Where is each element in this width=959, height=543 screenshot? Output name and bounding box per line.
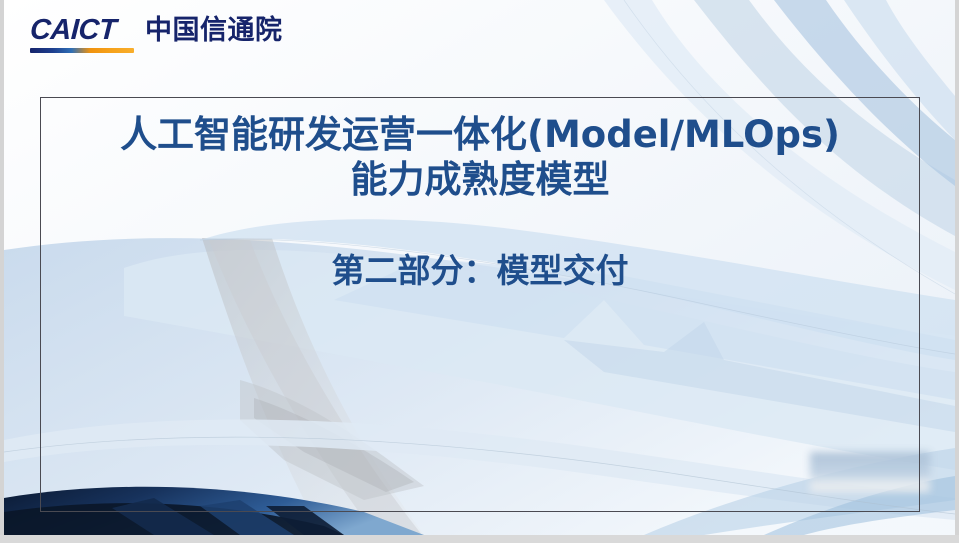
- logo-mark: CAICT: [30, 16, 134, 53]
- title-block: 人工智能研发运营一体化(Model/MLOps) 能力成熟度模型 第二部分：模型…: [40, 112, 920, 292]
- viewer-left-gutter: [0, 0, 4, 543]
- viewer-right-gutter: [955, 0, 959, 543]
- slide-subtitle: 第二部分：模型交付: [40, 250, 920, 292]
- logo-underline-gradient: [30, 48, 134, 53]
- slide-title-line-1: 人工智能研发运营一体化(Model/MLOps): [40, 112, 920, 157]
- logo-acronym-text: CAICT: [29, 16, 135, 46]
- slide-canvas: CAICT 中国信通院 人工智能研发运营一体化(Model/MLOps) 能力成…: [4, 0, 955, 535]
- logo-chinese-name: 中国信通院: [145, 17, 283, 44]
- caict-logo: CAICT 中国信通院: [30, 16, 283, 53]
- slide-title-line-2: 能力成熟度模型: [40, 157, 920, 202]
- slide-viewer: CAICT 中国信通院 人工智能研发运营一体化(Model/MLOps) 能力成…: [0, 0, 959, 543]
- viewer-bottom-gutter: [0, 535, 959, 543]
- blurred-plate-decoration: [810, 452, 930, 492]
